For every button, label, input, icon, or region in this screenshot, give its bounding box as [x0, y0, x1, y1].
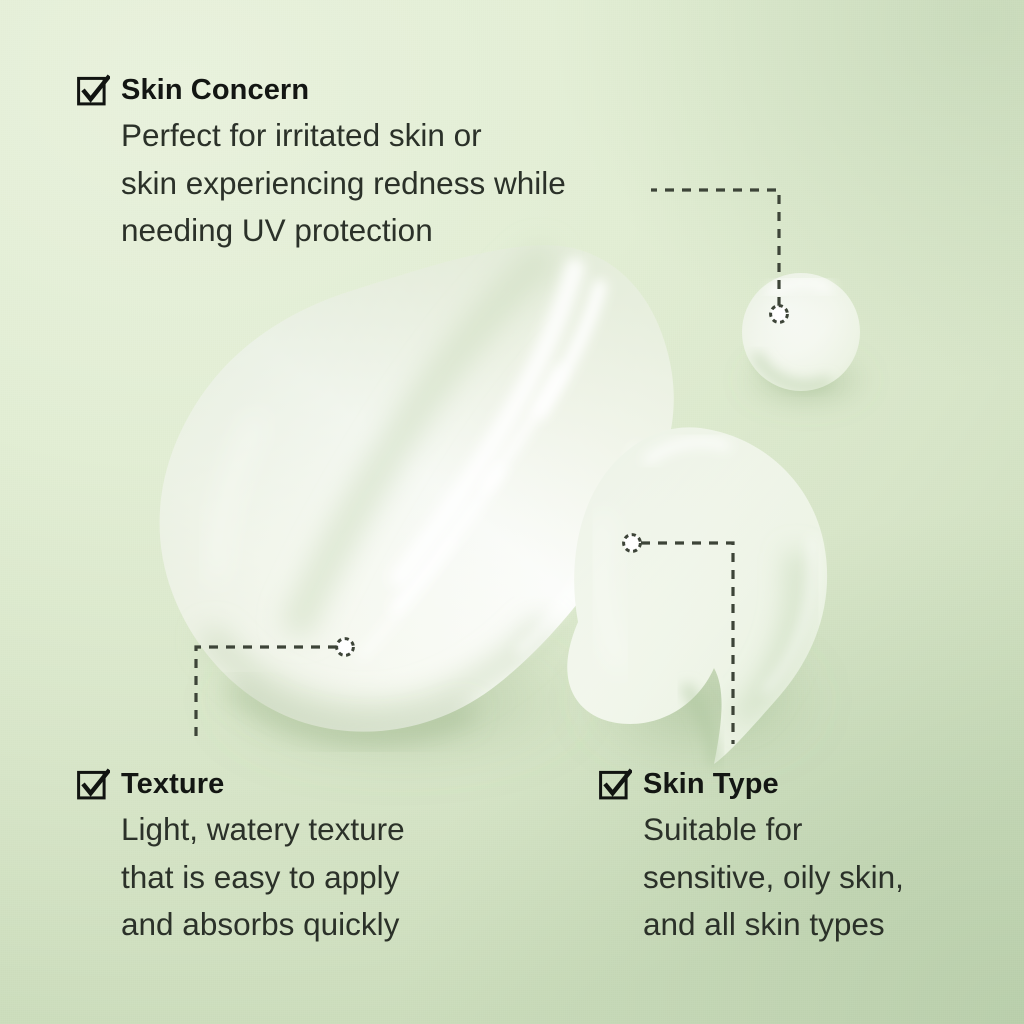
feature-title: Skin Concern [121, 75, 309, 107]
feature-heading-skin-concern: Skin Concern [76, 74, 566, 108]
callout-marker-skin-concern [771, 306, 788, 323]
feature-block-texture: Texture Light, watery texture that is ea… [76, 768, 405, 949]
feature-title: Texture [121, 769, 224, 801]
feature-description-line: skin experiencing redness while [121, 160, 566, 208]
feature-description-line: sensitive, oily skin, [643, 854, 904, 902]
leader-line-skin-concern [651, 190, 779, 306]
feature-description-line: and all skin types [643, 901, 904, 949]
callout-markers [337, 306, 788, 656]
checkbox-checked-icon [76, 768, 110, 802]
infographic-canvas: Skin Concern Perfect for irritated skin … [0, 0, 1024, 1024]
feature-description-skin-type: Suitable for sensitive, oily skin, and a… [598, 806, 904, 949]
callout-marker-skin-type [624, 535, 641, 552]
feature-description-line: and absorbs quickly [121, 901, 405, 949]
checkbox-checked-icon [598, 768, 632, 802]
feature-description-texture: Light, watery texture that is easy to ap… [76, 806, 405, 949]
feature-description-line: Perfect for irritated skin or [121, 112, 566, 160]
feature-description-line: Light, watery texture [121, 806, 405, 854]
feature-title: Skin Type [643, 769, 779, 801]
feature-description-line: needing UV protection [121, 207, 566, 255]
feature-heading-skin-type: Skin Type [598, 768, 904, 802]
feature-block-skin-concern: Skin Concern Perfect for irritated skin … [76, 74, 566, 255]
leader-line-skin-type [641, 543, 733, 744]
feature-heading-texture: Texture [76, 768, 405, 802]
callout-marker-texture [337, 639, 354, 656]
feature-block-skin-type: Skin Type Suitable for sensitive, oily s… [598, 768, 904, 949]
feature-description-line: Suitable for [643, 806, 904, 854]
checkbox-checked-icon [76, 74, 110, 108]
feature-description-skin-concern: Perfect for irritated skin or skin exper… [76, 112, 566, 255]
feature-description-line: that is easy to apply [121, 854, 405, 902]
leader-line-texture [196, 647, 337, 744]
